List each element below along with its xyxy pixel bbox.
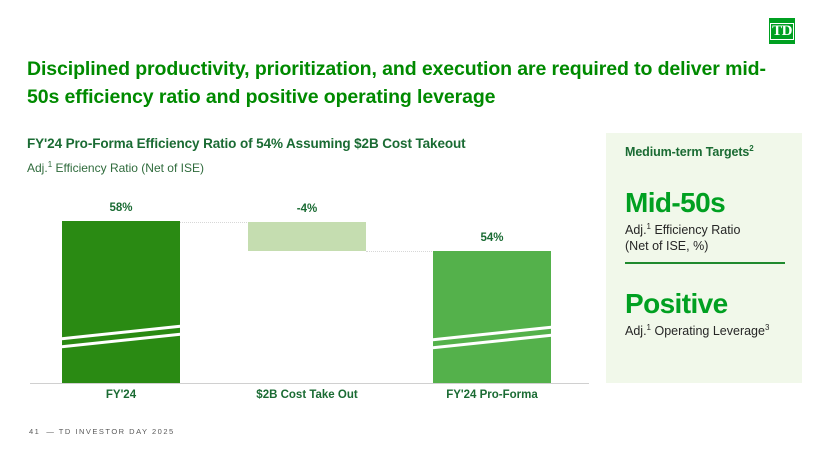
chart-title: FY'24 Pro-Forma Efficiency Ratio of 54% … <box>27 136 592 151</box>
footer-text: — TD INVESTOR DAY 2025 <box>46 427 174 436</box>
td-logo-text: TD <box>770 23 794 40</box>
target-operating-leverage-label: Adj.1 Operating Leverage3 <box>625 323 788 340</box>
bar-fy24-pro-forma[interactable] <box>433 251 551 383</box>
target-2-footnote-trailing: 3 <box>765 323 769 332</box>
target-efficiency-ratio: Mid-50s Adj.1 Efficiency Ratio(Net of IS… <box>625 189 788 264</box>
medium-term-targets-panel: Medium-term Targets2 Mid-50s Adj.1 Effic… <box>606 133 802 383</box>
target-2-sub-pre: Adj. <box>625 324 647 338</box>
bar-value-label-fy24: 58% <box>62 202 180 214</box>
target-efficiency-ratio-label: Adj.1 Efficiency Ratio(Net of ISE, %) <box>625 222 788 255</box>
bar-value-label-fy24-pro-forma: 54% <box>433 232 551 244</box>
target-1-sub-post: Efficiency Ratio <box>651 223 740 237</box>
target-2-sub-post: Operating Leverage <box>651 324 765 338</box>
category-label-fy24-pro-forma: FY'24 Pro-Forma <box>433 389 551 401</box>
panel-title-text: Medium-term Targets <box>625 145 749 159</box>
footer: 41— TD INVESTOR DAY 2025 <box>29 427 175 436</box>
bar-fy24[interactable] <box>62 221 180 383</box>
target-operating-leverage: Positive Adj.1 Operating Leverage3 <box>625 290 788 340</box>
footer-page-number: 41 <box>29 427 40 436</box>
chart-subtitle-pre: Adj. <box>27 161 48 175</box>
chart-axis-line <box>30 383 589 384</box>
chart-subtitle-post: Efficiency Ratio (Net of ISE) <box>52 161 204 175</box>
target-1-sub-pre: Adj. <box>625 223 647 237</box>
axis-break-slash-icon <box>59 325 183 340</box>
bar-cost-take-out[interactable] <box>248 222 366 251</box>
td-logo: TD <box>769 18 795 44</box>
panel-title: Medium-term Targets2 <box>625 144 788 159</box>
page-title: Disciplined productivity, prioritization… <box>27 56 797 111</box>
axis-break-slash-icon <box>430 326 554 341</box>
waterfall-chart-plot: 58% -4% 54% FY'24 $2B Cost Take Out FY'2… <box>27 193 592 406</box>
bar-value-label-cost-take-out: -4% <box>248 203 366 215</box>
target-operating-leverage-value: Positive <box>625 290 788 318</box>
chart-subtitle: Adj.1 Efficiency Ratio (Net of ISE) <box>27 160 592 175</box>
panel-divider <box>625 262 785 264</box>
chart-block: FY'24 Pro-Forma Efficiency Ratio of 54% … <box>27 136 592 406</box>
target-1-sub-line2: (Net of ISE, %) <box>625 239 708 253</box>
category-label-cost-take-out: $2B Cost Take Out <box>248 389 366 401</box>
panel-title-footnote: 2 <box>749 144 753 153</box>
category-label-fy24: FY'24 <box>62 389 180 401</box>
target-efficiency-ratio-value: Mid-50s <box>625 189 788 217</box>
